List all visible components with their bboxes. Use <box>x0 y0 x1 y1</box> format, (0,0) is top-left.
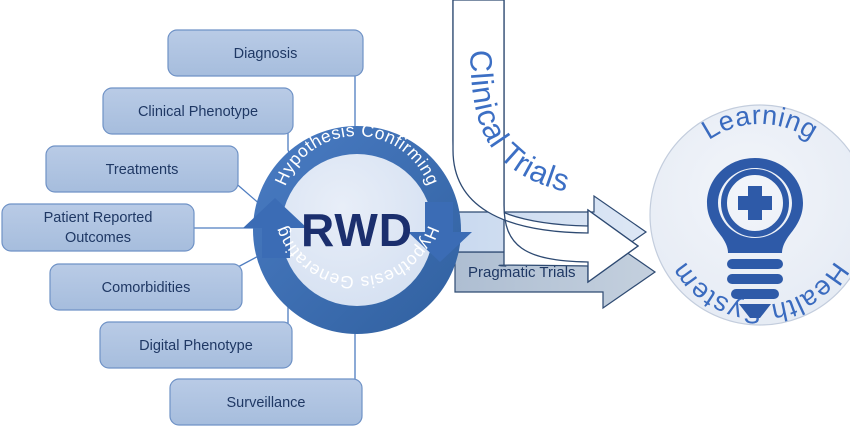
box-label-diagnosis: Diagnosis <box>234 46 298 62</box>
box-patient-reported-outcomes[interactable]: Patient Reported Outcomes <box>2 204 194 251</box>
box-digital-phenotype[interactable]: Digital Phenotype <box>100 322 292 368</box>
box-comorbidities[interactable]: Comorbidities <box>50 264 242 310</box>
rwd-cycle: Hypothesis Confirming Hypothesis Generat… <box>243 120 472 334</box>
box-label-patient-reported-outcomes-line1: Patient Reported <box>44 210 153 226</box>
box-treatments[interactable]: Treatments <box>46 146 238 192</box>
box-label-clinical-phenotype: Clinical Phenotype <box>138 104 258 120</box>
box-surveillance[interactable]: Surveillance <box>170 379 362 425</box>
box-clinical-phenotype[interactable]: Clinical Phenotype <box>103 88 293 134</box>
box-label-patient-reported-outcomes-line2: Outcomes <box>65 230 131 246</box>
box-diagnosis[interactable]: Diagnosis <box>168 30 363 76</box>
box-label-comorbidities: Comorbidities <box>102 280 191 296</box>
box-label-surveillance: Surveillance <box>227 395 306 411</box>
learning-health-system[interactable]: Learning Health System <box>650 100 850 330</box>
box-label-digital-phenotype: Digital Phenotype <box>139 338 253 354</box>
cycle-center-label: RWD <box>301 204 413 256</box>
arrow-label-pragmatic-trials: Pragmatic Trials <box>468 264 576 281</box>
diagram-canvas: Diagnosis Clinical Phenotype Treatments … <box>0 0 850 427</box>
box-label-treatments: Treatments <box>106 162 179 178</box>
